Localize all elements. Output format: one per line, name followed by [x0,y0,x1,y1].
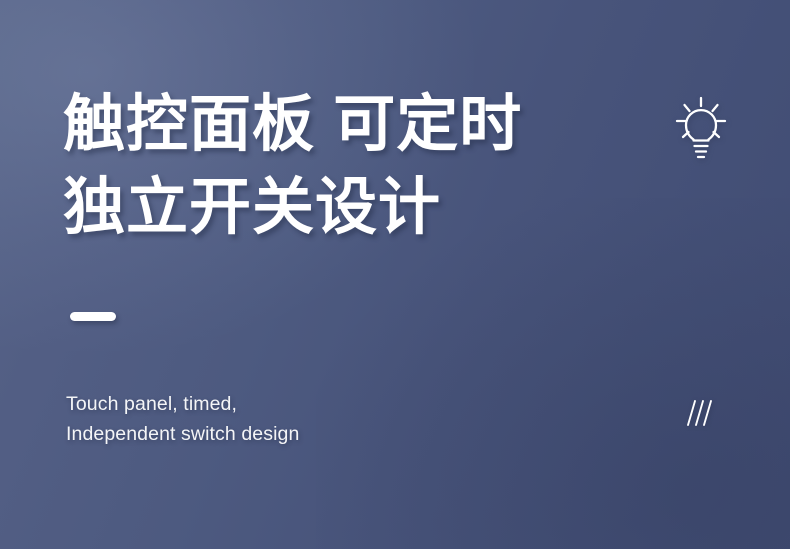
subtitle-text: Touch panel, timed, Independent switch d… [66,390,299,450]
page-title: 触控面板 可定时 独立开关设计 [63,83,522,249]
banner-content-layer: 触控面板 可定时 独立开关设计 Touch panel, timed, Inde… [0,0,790,549]
title-divider [70,312,116,321]
promo-banner: 触控面板 可定时 独立开关设计 Touch panel, timed, Inde… [0,0,790,549]
lightbulb-icon [673,96,729,162]
triple-slash-icon [681,398,715,428]
